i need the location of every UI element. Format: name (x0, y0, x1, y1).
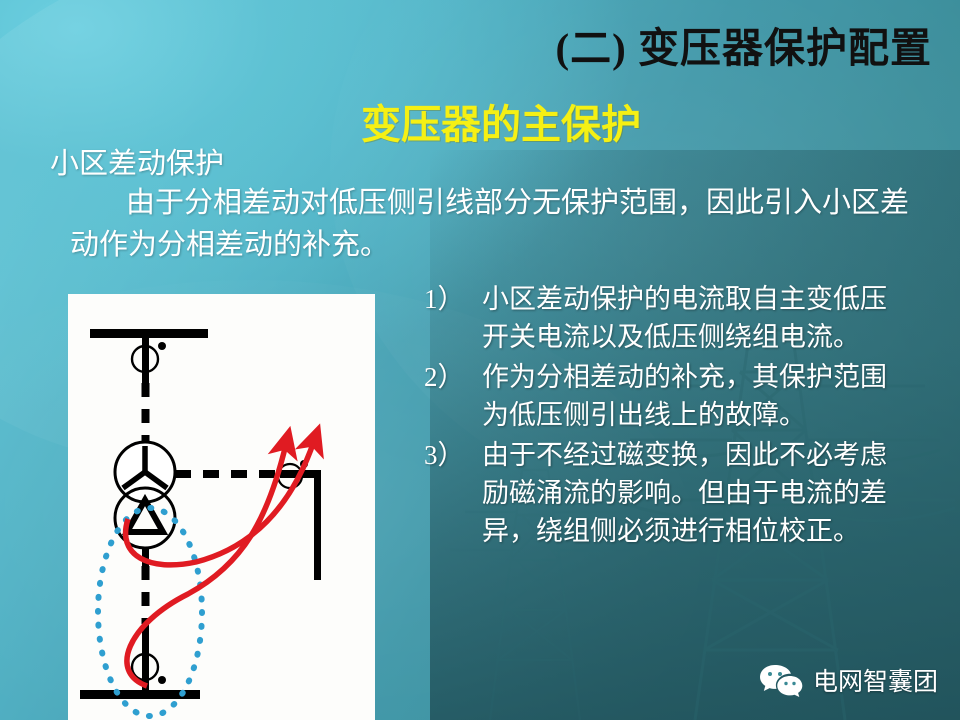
branch-conductor-vertical (314, 470, 321, 580)
top-ct-polarity-dot-icon (158, 342, 166, 350)
list-item-text: 由于不经过磁变换，因此不必考虑励磁涌流的影响。但由于电流的差异，绕组侧必须进行相… (482, 436, 894, 550)
bottom-ct-polarity-dot-icon (158, 676, 166, 684)
section-paragraph: 由于分相差动对低压侧引线部分无保护范围，因此引入小区差动作为分相差动的补充。 (70, 182, 910, 266)
list-item-text: 小区差动保护的电流取自主变低压开关电流以及低压侧绕组电流。 (482, 280, 894, 356)
section-heading: 小区差动保护 (50, 140, 224, 182)
slide-root: (二) 变压器保护配置 变压器的主保护 小区差动保护 由于分相差动对低压侧引线部… (0, 0, 960, 720)
list-item-marker: 1） (424, 280, 482, 318)
watermark-label: 电网智囊团 (813, 662, 938, 698)
list-item-text: 作为分相差动的补充，其保护范围为低压侧引出线上的故障。 (482, 358, 894, 434)
top-conductor (142, 338, 149, 383)
list-item-marker: 3） (424, 436, 482, 474)
watermark: 电网智囊团 (759, 662, 938, 698)
top-busbar (90, 329, 208, 338)
protection-diagram (68, 294, 375, 720)
page-title: (二) 变压器保护配置 (0, 14, 932, 74)
list-item: 2） 作为分相差动的补充，其保护范围为低压侧引出线上的故障。 (424, 358, 894, 434)
list-item: 3） 由于不经过磁变换，因此不必考虑励磁涌流的影响。但由于电流的差异，绕组侧必须… (424, 436, 894, 550)
wechat-icon (759, 663, 803, 697)
list-item-marker: 2） (424, 358, 482, 396)
numbered-list: 1） 小区差动保护的电流取自主变低压开关电流以及低压侧绕组电流。 2） 作为分相… (424, 280, 894, 552)
list-item: 1） 小区差动保护的电流取自主变低压开关电流以及低压侧绕组电流。 (424, 280, 894, 356)
